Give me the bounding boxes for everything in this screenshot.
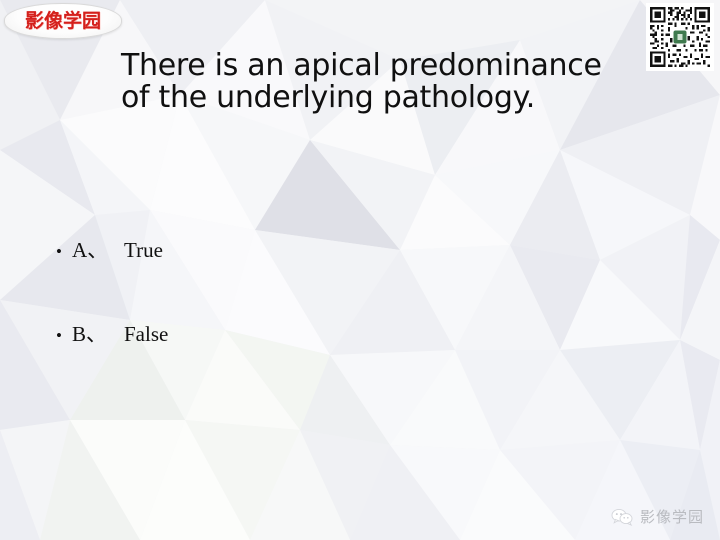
- answer-option-a-value: True: [124, 240, 163, 261]
- presentation-slide: 影像学园: [0, 0, 720, 540]
- title-line-2: of the underlying pathology.: [121, 82, 651, 114]
- answer-option-b-value: False: [124, 324, 168, 345]
- wechat-icon: [611, 508, 633, 526]
- footer-watermark: 影像学园: [611, 508, 704, 526]
- brand-logo-badge: 影像学园: [4, 3, 122, 39]
- footer-watermark-text: 影像学园: [640, 510, 704, 525]
- bullet-dot-icon: •: [56, 327, 72, 344]
- slide-title: There is an apical predominance of the u…: [121, 50, 651, 114]
- answer-option-a-label: A、: [72, 240, 124, 261]
- answer-option-a[interactable]: • A、 True: [56, 240, 476, 324]
- answer-option-b-label: B、: [72, 324, 124, 345]
- bullet-dot-icon: •: [56, 243, 72, 260]
- title-line-1: There is an apical predominance: [121, 50, 651, 82]
- answer-options-list: • A、 True • B、 False: [56, 240, 476, 408]
- answer-option-b[interactable]: • B、 False: [56, 324, 476, 408]
- qr-code[interactable]: [646, 3, 714, 71]
- brand-logo-text: 影像学园: [25, 12, 101, 31]
